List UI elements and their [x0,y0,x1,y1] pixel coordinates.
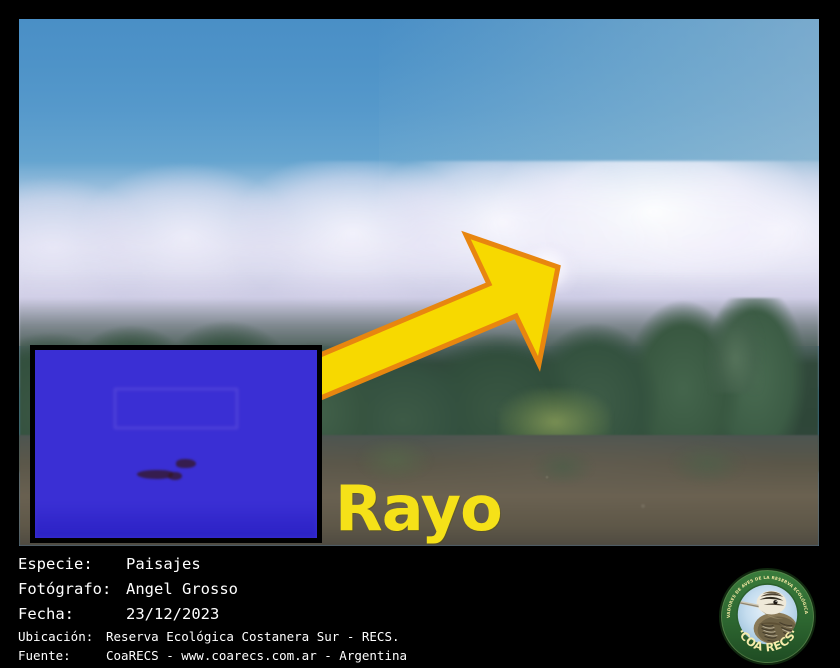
caption-value: Angel Grosso [126,577,238,602]
caption-value: Reserva Ecológica Costanera Sur - RECS. [106,627,400,646]
caption-label: Fecha: [18,602,126,627]
caption-row-ubicacion: Ubicación: Reserva Ecológica Costanera S… [0,627,700,646]
inset-vignette [35,504,317,538]
caption-label: Fuente: [18,646,106,665]
caption-row-especie: Especie: Paisajes [0,552,700,577]
coa-recs-badge[interactable]: CLUB DE OBSERVADORES DE AVES DE LA RESER… [718,567,817,666]
caption-value: Paisajes [126,552,201,577]
caption-label: Fotógrafo: [18,577,126,602]
lightning-flash [511,246,583,293]
lightning-closeup-inset [30,345,322,543]
caption-row-fotografo: Fotógrafo: Angel Grosso [0,577,700,602]
rayo-annotation-label: Rayo [335,478,502,540]
caption-value: CoaRECS - www.coarecs.com.ar - Argentina [106,646,407,665]
caption-label: Ubicación: [18,627,106,646]
caption-block: Especie: Paisajes Fotógrafo: Angel Gross… [0,552,700,668]
inset-ghost-rect [114,388,238,429]
caption-row-fecha: Fecha: 23/12/2023 [0,602,700,627]
inset-silhouette [168,472,182,480]
caption-value: 23/12/2023 [126,602,219,627]
main-photo: Rayo [19,19,819,546]
inset-silhouette [176,459,196,468]
screenshot-root: Rayo Especie: Paisajes Fotógrafo: Angel … [0,0,840,668]
tall-tree [707,309,763,393]
caption-label: Especie: [18,552,126,577]
caption-row-fuente: Fuente: CoaRECS - www.coarecs.com.ar - A… [0,646,700,665]
